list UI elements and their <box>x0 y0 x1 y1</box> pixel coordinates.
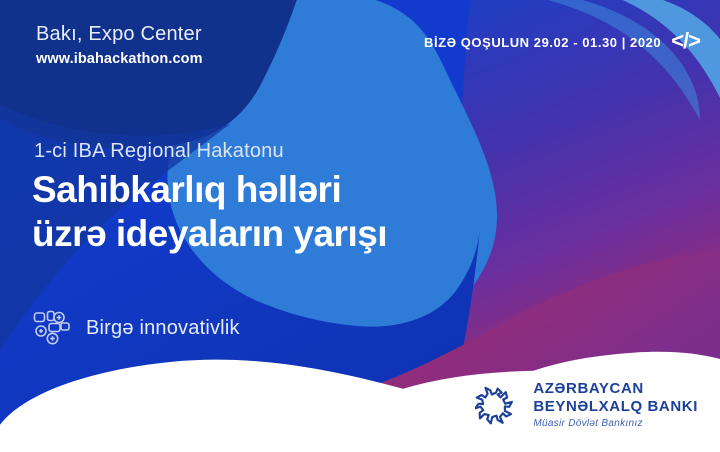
tagline-row: Birgə innovativlik <box>32 310 240 346</box>
code-icon: </> <box>671 30 700 52</box>
tagline-text: Birgə innovativlik <box>86 316 240 340</box>
bank-slogan: Müasir Dövlət Bankınız <box>533 418 698 430</box>
join-dates-text: BİZƏ QOŞULUN 29.02 - 01.30 | 2020 <box>424 35 661 50</box>
hackathon-banner: Bakı, Expo Center www.ibahackathon.com B… <box>0 0 720 452</box>
event-website-url[interactable]: www.ibahackathon.com <box>36 50 203 68</box>
page-title: Sahibkarlıq həlləri üzrə ideyaların yarı… <box>32 168 387 256</box>
bank-name-block: AZƏRBAYCAN BEYNƏLXALQ BANKI Müasir Dövlə… <box>533 380 698 430</box>
bank-name-line-1: AZƏRBAYCAN <box>533 380 698 398</box>
venue-block: Bakı, Expo Center www.ibahackathon.com <box>36 22 203 68</box>
join-dates-block: BİZƏ QOŞULUN 29.02 - 01.30 | 2020 </> <box>424 31 700 53</box>
collaboration-cluster-icon <box>32 310 72 346</box>
iba-rosette-logo-mark <box>475 382 521 428</box>
venue-city: Bakı, Expo Center <box>36 22 203 47</box>
bank-logo: AZƏRBAYCAN BEYNƏLXALQ BANKI Müasir Dövlə… <box>475 380 698 430</box>
headline-line-1: Sahibkarlıq həlləri <box>32 168 387 212</box>
event-kicker: 1-ci IBA Regional Hakatonu <box>34 139 284 163</box>
headline-line-2: üzrə ideyaların yarışı <box>32 212 387 256</box>
bank-name-line-2: BEYNƏLXALQ BANKI <box>533 398 698 416</box>
